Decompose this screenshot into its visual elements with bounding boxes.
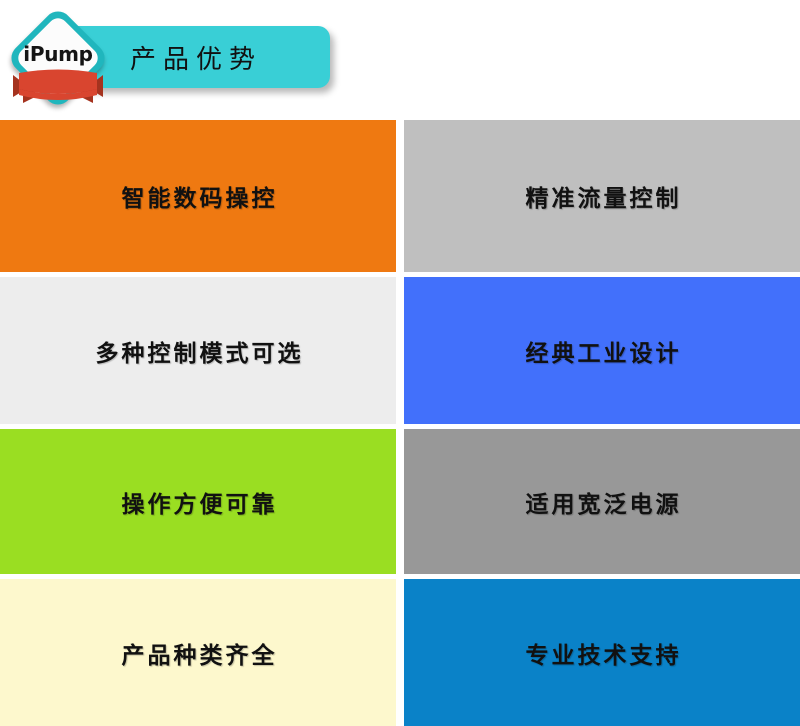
ipump-logo-badge: iPump <box>7 7 109 109</box>
advantage-cell[interactable]: 精准流量控制 <box>404 120 800 272</box>
advantage-cell[interactable]: 经典工业设计 <box>404 277 800 424</box>
advantage-label: 适用宽泛电源 <box>523 485 682 519</box>
advantage-label: 多种控制模式可选 <box>93 334 304 368</box>
advantage-label: 精准流量控制 <box>523 179 682 213</box>
advantage-label: 产品种类齐全 <box>119 636 278 670</box>
advantage-cell[interactable]: 适用宽泛电源 <box>404 429 800 574</box>
ribbon-icon <box>9 69 107 105</box>
advantage-label: 经典工业设计 <box>523 334 682 368</box>
advantage-label: 操作方便可靠 <box>119 485 278 519</box>
advantage-cell[interactable]: 操作方便可靠 <box>0 429 396 574</box>
badge-label: iPump <box>7 42 109 66</box>
advantage-cell[interactable]: 智能数码操控 <box>0 120 396 272</box>
page-header: 产品优势 iPump <box>0 0 800 120</box>
advantages-grid: 智能数码操控 精准流量控制 多种控制模式可选 经典工业设计 操作方便可靠 适用宽… <box>0 120 800 726</box>
advantage-cell[interactable]: 专业技术支持 <box>404 579 800 726</box>
advantage-cell[interactable]: 产品种类齐全 <box>0 579 396 726</box>
advantage-label: 专业技术支持 <box>523 636 682 670</box>
advantage-label: 智能数码操控 <box>119 179 278 213</box>
advantage-cell[interactable]: 多种控制模式可选 <box>0 277 396 424</box>
